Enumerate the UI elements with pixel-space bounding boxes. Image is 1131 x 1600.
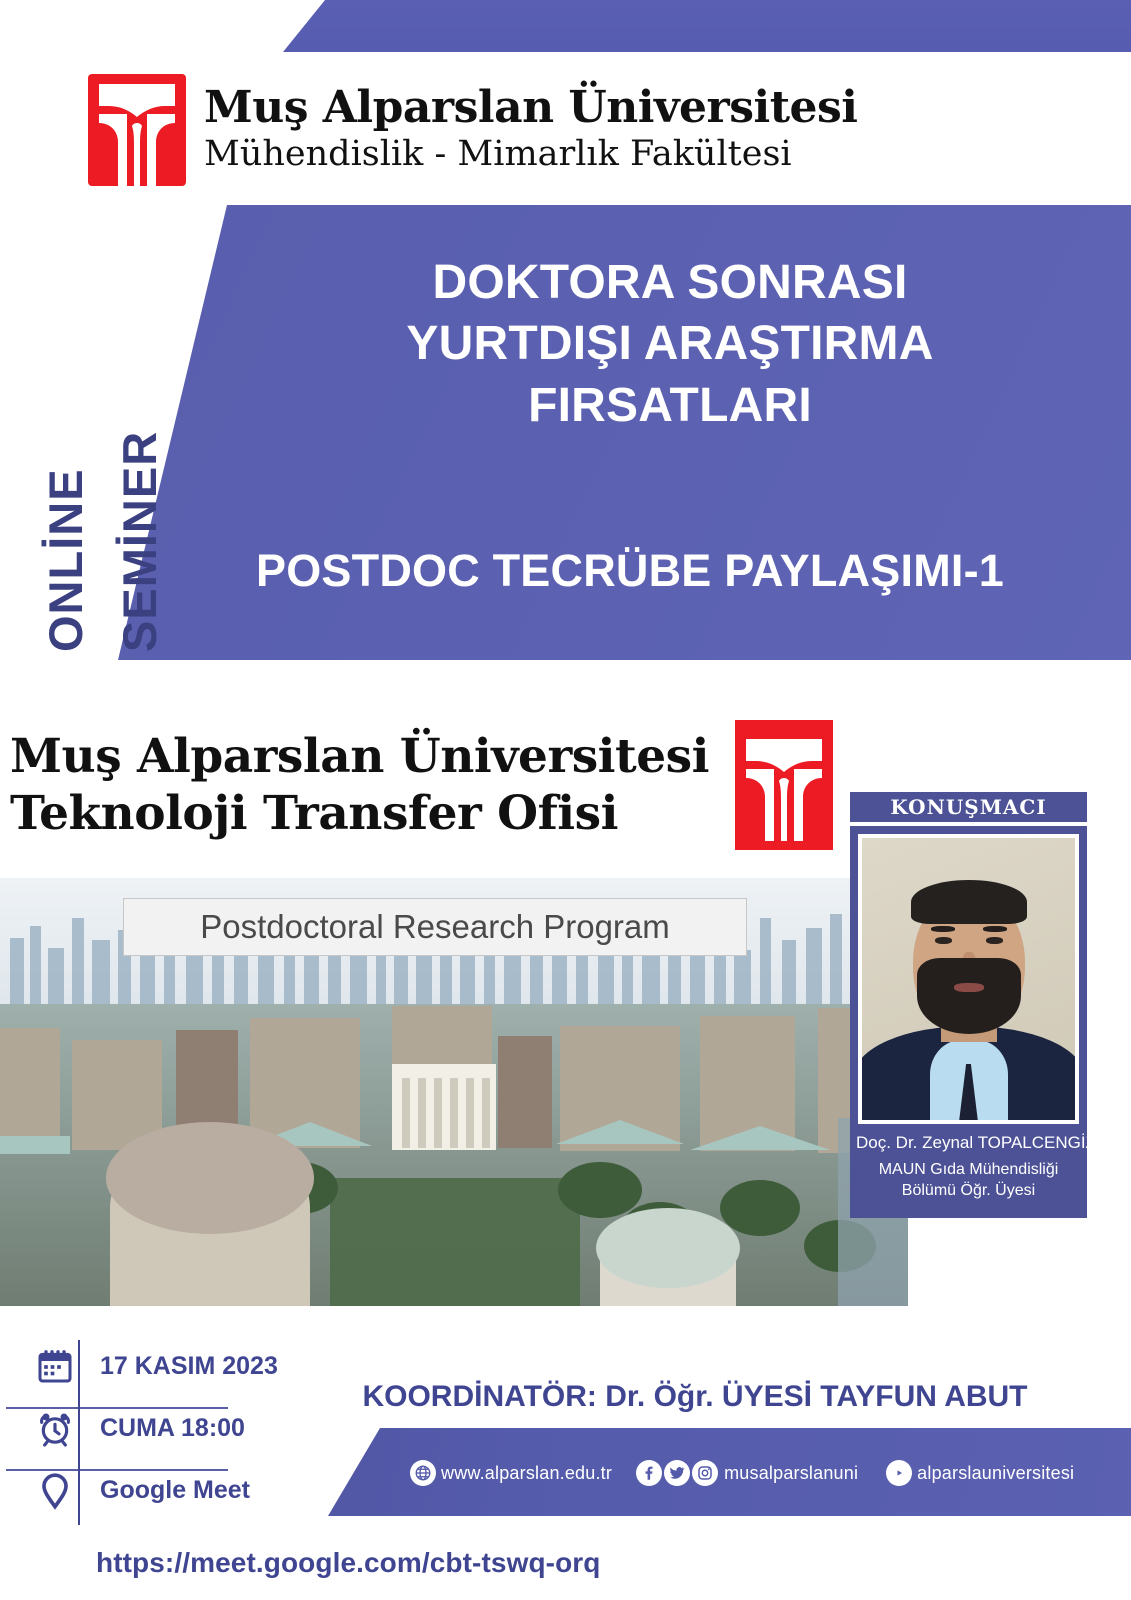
title-line-3: FIRSATLARI <box>230 375 1110 436</box>
vertical-label-seminer: SEMİNER <box>112 431 167 652</box>
vertical-label-online: ONLİNE <box>38 468 93 652</box>
seminar-subtitle: POSTDOC TECRÜBE PAYLAŞIMI-1 <box>150 545 1110 597</box>
facebook-icon[interactable] <box>636 1460 662 1486</box>
tto-line-1: Muş Alparslan Üniversitesi <box>10 728 709 785</box>
event-time: CUMA 18:00 <box>100 1414 245 1443</box>
info-row-time: CUMA 18:00 <box>32 1397 292 1459</box>
alarm-clock-icon <box>32 1405 78 1451</box>
event-platform: Google Meet <box>100 1476 250 1505</box>
title-line-1: DOKTORA SONRASI <box>230 252 1110 313</box>
social-handle: musalparslanuni <box>724 1463 858 1484</box>
instagram-icon[interactable] <box>692 1460 718 1486</box>
moderator-label: MODERATÖR: DR. ÖĞR. ÜYESİ HALİL YILMAZ <box>300 1326 1090 1360</box>
maun-logo-icon <box>88 74 186 186</box>
event-info-list: 17 KASIM 2023 CUMA 18:00 <box>32 1335 292 1521</box>
twitter-icon[interactable] <box>664 1460 690 1486</box>
seminar-poster: Muş Alparslan Üniversitesi Mühendislik -… <box>0 0 1131 1600</box>
speaker-affiliation: MAUN Gıda Mühendisliği Bölümü Öğr. Üyesi <box>856 1159 1081 1201</box>
university-name: Muş Alparslan Üniversitesi <box>204 85 858 132</box>
speaker-affiliation-line-1: MAUN Gıda Mühendisliği <box>856 1159 1081 1180</box>
speaker-affiliation-line-2: Bölümü Öğr. Üyesi <box>856 1180 1081 1201</box>
location-pin-icon <box>32 1467 78 1513</box>
social-links-row: www.alparslan.edu.tr musalparslanuni <box>410 1458 1074 1488</box>
website-url: www.alparslan.edu.tr <box>441 1463 612 1484</box>
info-row-date: 17 KASIM 2023 <box>32 1335 292 1397</box>
youtube-handle: alparslauniversitesi <box>917 1463 1074 1484</box>
speaker-avatar <box>862 838 1075 1120</box>
title-line-2: YURTDIŞI ARAŞTIRMA <box>230 313 1110 374</box>
meet-link[interactable]: https://meet.google.com/cbt-tswq-orq <box>96 1547 600 1579</box>
tto-line-2: Teknoloji Transfer Ofisi <box>10 785 709 842</box>
maun-logo-icon <box>735 720 833 850</box>
event-date: 17 KASIM 2023 <box>100 1352 278 1381</box>
calendar-icon <box>32 1343 78 1389</box>
poster-header: Muş Alparslan Üniversitesi Mühendislik -… <box>88 70 888 190</box>
postdoc-program-banner: Postdoctoral Research Program <box>123 898 747 956</box>
speaker-photo-frame <box>858 834 1079 1124</box>
speaker-name: Doç. Dr. Zeynal TOPALCENGİZ <box>856 1134 1081 1153</box>
faculty-name: Mühendislik - Mimarlık Fakültesi <box>204 133 858 175</box>
social-handles[interactable]: musalparslanuni <box>636 1460 858 1486</box>
tto-logo-block: Muş Alparslan Üniversitesi Teknoloji Tra… <box>10 700 840 870</box>
speaker-tab-label: KONUŞMACI <box>850 792 1087 822</box>
coordinator-label: KOORDİNATÖR: Dr. Öğr. ÜYESİ TAYFUN ABUT <box>300 1380 1090 1414</box>
youtube-icon[interactable] <box>886 1460 912 1486</box>
seminar-title: DOKTORA SONRASI YURTDIŞI ARAŞTIRMA FIRSA… <box>230 252 1110 436</box>
social-youtube[interactable]: alparslauniversitesi <box>886 1460 1074 1486</box>
globe-icon <box>410 1460 436 1486</box>
top-accent-band <box>0 0 1131 52</box>
social-website[interactable]: www.alparslan.edu.tr <box>410 1460 612 1486</box>
info-row-location: Google Meet <box>32 1459 292 1521</box>
speaker-card: Doç. Dr. Zeynal TOPALCENGİZ MAUN Gıda Mü… <box>850 826 1087 1218</box>
